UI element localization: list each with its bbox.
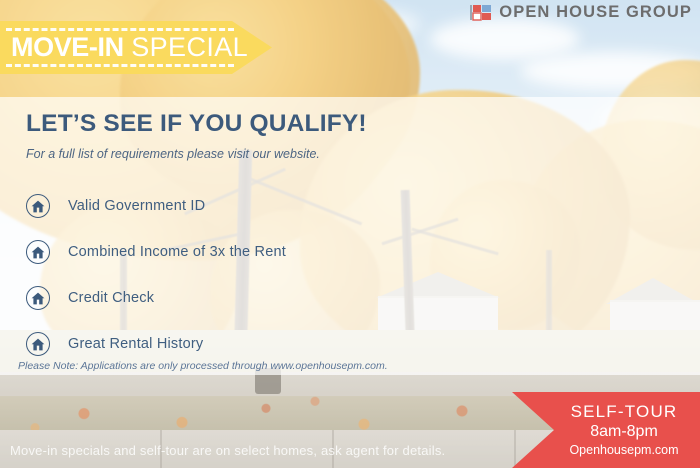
requirements-list: Valid Government ID Combined Income of 3… <box>26 183 546 367</box>
banner-stitch-top <box>6 28 234 31</box>
banner-text-light: SPECIAL <box>131 32 248 62</box>
list-item: Combined Income of 3x the Rent <box>26 229 546 275</box>
self-tour-url[interactable]: Openhousepm.com <box>569 442 678 458</box>
house-circle-icon <box>26 286 50 310</box>
house-flag-logo-icon <box>470 3 492 22</box>
page-subtitle: For a full list of requirements please v… <box>26 147 546 161</box>
application-note: Please Note: Applications are only proce… <box>18 360 388 372</box>
list-item-label: Valid Government ID <box>68 198 205 214</box>
house-circle-icon <box>26 240 50 264</box>
qualify-content: LET’S SEE IF YOU QUALIFY! For a full lis… <box>26 110 546 367</box>
banner-text: MOVE-IN SPECIAL <box>0 34 248 61</box>
banner-text-bold: MOVE-IN <box>11 32 124 62</box>
list-item-label: Credit Check <box>68 290 154 306</box>
page-title: LET’S SEE IF YOU QUALIFY! <box>26 110 546 138</box>
footer-disclaimer: Move-in specials and self-tour are on se… <box>10 443 445 458</box>
list-item-label: Combined Income of 3x the Rent <box>68 244 286 260</box>
self-tour-hours: 8am-8pm <box>590 422 658 442</box>
house-circle-icon <box>26 332 50 356</box>
list-item: Valid Government ID <box>26 183 546 229</box>
house-circle-icon <box>26 194 50 218</box>
brand-logo[interactable]: OPEN HOUSE GROUP <box>470 3 692 22</box>
self-tour-title: SELF-TOUR <box>571 402 678 422</box>
list-item-label: Great Rental History <box>68 336 203 352</box>
banner-stitch-bottom <box>6 64 234 67</box>
list-item: Credit Check <box>26 275 546 321</box>
flyer-canvas: OPEN HOUSE GROUP MOVE-IN SPECIAL LET’S S… <box>0 0 700 468</box>
brand-logo-text: OPEN HOUSE GROUP <box>499 3 692 22</box>
move-in-special-banner: MOVE-IN SPECIAL <box>0 21 272 74</box>
